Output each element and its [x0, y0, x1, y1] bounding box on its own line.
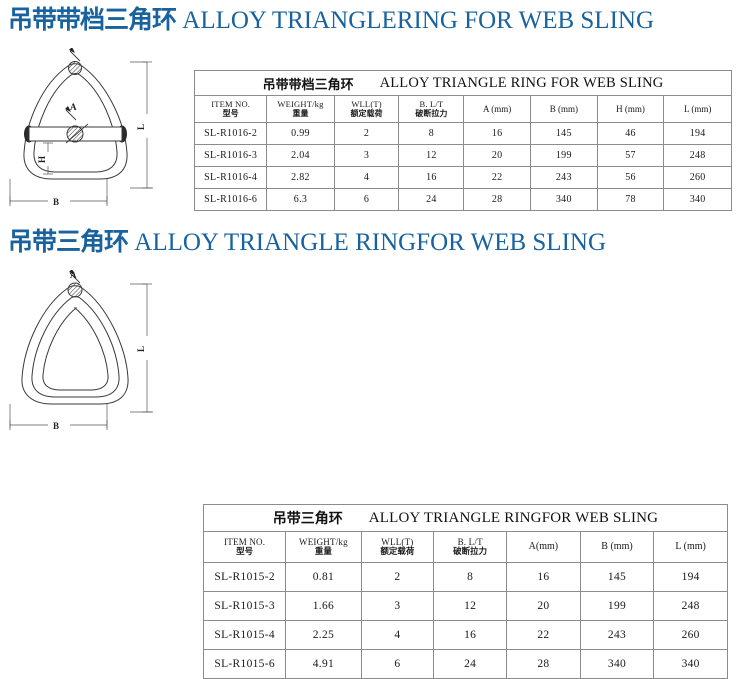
col-header-item-no-cn: 型号 — [204, 547, 285, 557]
cell-weight: 0.81 — [286, 563, 361, 592]
col-header-a: A(mm) — [507, 532, 581, 563]
col-header-l: L (mm) — [664, 96, 732, 123]
section-title: 吊带带档三角环 ALLOY TRIANGLERING FOR WEB SLING — [0, 0, 750, 40]
cell-l: 340 — [654, 650, 728, 679]
col-header-blt: B. L/T 破断拉力 — [434, 532, 507, 563]
cell-a: 20 — [464, 145, 531, 167]
col-header-b: B (mm) — [531, 96, 598, 123]
cell-item-no: SL-R1016-2 — [195, 123, 267, 145]
cell-wll: 2 — [334, 123, 399, 145]
cell-h: 57 — [597, 145, 664, 167]
cell-weight: 2.82 — [267, 167, 334, 189]
cell-weight: 2.04 — [267, 145, 334, 167]
table-row: SL-R1016-4 2.82 4 16 22 243 56 260 — [195, 167, 732, 189]
cell-b: 243 — [531, 167, 598, 189]
table-body: SL-R1015-2 0.81 2 8 16 145 194 SL-R1015-… — [204, 563, 728, 679]
section-title-en: ALLOY TRIANGLERING FOR WEB SLING — [182, 7, 654, 34]
cell-blt: 16 — [434, 621, 507, 650]
col-header-weight-cn: 重量 — [286, 547, 360, 557]
cell-b: 199 — [531, 145, 598, 167]
col-header-blt-en: B. L/T — [434, 537, 506, 548]
col-header-h-label: H (mm) — [598, 104, 664, 115]
cell-a: 28 — [507, 650, 581, 679]
table-row: SL-R1016-2 0.99 2 8 16 145 46 194 — [195, 123, 732, 145]
table-body: SL-R1016-2 0.99 2 8 16 145 46 194 SL-R10… — [195, 123, 732, 211]
table-banner-en: ALLOY TRIANGLE RINGFOR WEB SLING — [369, 510, 658, 527]
col-header-item-no: ITEM NO. 型号 — [195, 96, 267, 123]
product-section-triangle-ring: 吊带三角环 ALLOY TRIANGLE RINGFOR WEB SLING A — [0, 222, 750, 262]
col-header-wll-en: WLL(T) — [362, 537, 434, 548]
cell-a: 20 — [507, 592, 581, 621]
col-header-a: A (mm) — [464, 96, 531, 123]
table-row: SL-R1015-2 0.81 2 8 16 145 194 — [204, 563, 728, 592]
cell-b: 145 — [580, 563, 654, 592]
col-header-l-label: L (mm) — [664, 104, 731, 115]
cell-a: 16 — [507, 563, 581, 592]
cell-l: 260 — [664, 167, 732, 189]
col-header-blt: B. L/T 破断拉力 — [399, 96, 464, 123]
cell-l: 260 — [654, 621, 728, 650]
section-title-cn: 吊带三角环 — [8, 227, 128, 256]
cell-blt: 12 — [434, 592, 507, 621]
cell-weight: 1.66 — [286, 592, 361, 621]
col-header-b: B (mm) — [580, 532, 654, 563]
table-row: SL-R1016-3 2.04 3 12 20 199 57 248 — [195, 145, 732, 167]
cell-blt: 24 — [434, 650, 507, 679]
col-header-wll: WLL(T) 额定载荷 — [361, 532, 434, 563]
cell-weight: 0.99 — [267, 123, 334, 145]
col-header-wll-en: WLL(T) — [335, 99, 399, 109]
table-banner-row: 吊带带档三角环 ALLOY TRIANGLE RING FOR WEB SLIN… — [195, 71, 732, 96]
col-header-weight: WEIGHT/kg 重量 — [267, 96, 334, 123]
cell-b: 145 — [531, 123, 598, 145]
bar-section-hatch-top — [69, 62, 82, 75]
cell-b: 340 — [580, 650, 654, 679]
cell-blt: 8 — [399, 123, 464, 145]
col-header-item-no-en: ITEM NO. — [195, 99, 266, 109]
table-row: SL-R1015-6 4.91 6 24 28 340 340 — [204, 650, 728, 679]
cell-item-no: SL-R1015-2 — [204, 563, 286, 592]
col-header-blt-cn: 破断拉力 — [434, 547, 506, 557]
table-banner-cn: 吊带三角环 — [273, 508, 343, 528]
col-header-b-label: B (mm) — [531, 104, 597, 115]
product-section-triangle-ring-with-bar: 吊带带档三角环 ALLOY TRIANGLERING FOR WEB SLING — [0, 0, 750, 40]
cell-item-no: SL-R1016-3 — [195, 145, 267, 167]
cell-l: 248 — [654, 592, 728, 621]
cell-h: 46 — [597, 123, 664, 145]
col-header-a-label: A(mm) — [507, 541, 580, 553]
table-banner: 吊带带档三角环 ALLOY TRIANGLE RING FOR WEB SLIN… — [195, 71, 732, 96]
table-banner-row: 吊带三角环 ALLOY TRIANGLE RINGFOR WEB SLING — [204, 505, 728, 532]
cell-h: 56 — [597, 167, 664, 189]
cell-wll: 2 — [361, 563, 434, 592]
col-header-wll-cn: 额定载荷 — [362, 547, 434, 557]
cell-b: 243 — [580, 621, 654, 650]
cell-wll: 4 — [334, 167, 399, 189]
triangle-ring-drawing: A L B — [8, 270, 193, 435]
cell-l: 340 — [664, 189, 732, 211]
cell-wll: 3 — [361, 592, 434, 621]
section-title-cn: 吊带带档三角环 — [8, 5, 176, 34]
cell-a: 22 — [464, 167, 531, 189]
label-l-2: L — [136, 346, 146, 352]
table-header-row: ITEM NO. 型号 WEIGHT/kg 重量 WLL(T) 额定载荷 B. … — [195, 96, 732, 123]
label-a-1: A — [70, 102, 77, 112]
col-header-blt-cn: 破断拉力 — [399, 109, 463, 118]
cell-a: 28 — [464, 189, 531, 211]
cell-l: 248 — [664, 145, 732, 167]
col-header-weight-en: WEIGHT/kg — [267, 99, 333, 109]
col-header-weight-cn: 重量 — [267, 109, 333, 118]
col-header-weight: WEIGHT/kg 重量 — [286, 532, 361, 563]
table-row: SL-R1015-3 1.66 3 12 20 199 248 — [204, 592, 728, 621]
cell-weight: 4.91 — [286, 650, 361, 679]
cell-item-no: SL-R1016-6 — [195, 189, 267, 211]
cell-wll: 6 — [361, 650, 434, 679]
table-row: SL-R1016-6 6.3 6 24 28 340 78 340 — [195, 189, 732, 211]
col-header-a-label: A (mm) — [464, 104, 530, 115]
cell-l: 194 — [664, 123, 732, 145]
cell-blt: 16 — [399, 167, 464, 189]
table-header-row: ITEM NO. 型号 WEIGHT/kg 重量 WLL(T) 额定载荷 B. … — [204, 532, 728, 563]
cell-b: 199 — [580, 592, 654, 621]
cell-a: 16 — [464, 123, 531, 145]
table-banner: 吊带三角环 ALLOY TRIANGLE RINGFOR WEB SLING — [204, 505, 728, 532]
triangle-ring-with-bar-drawing: A L B — [8, 48, 193, 213]
section-title-en: ALLOY TRIANGLE RINGFOR WEB SLING — [134, 229, 606, 256]
bar-section-hatch-top — [68, 283, 82, 297]
col-header-b-label: B (mm) — [581, 541, 654, 553]
cell-a: 22 — [507, 621, 581, 650]
cell-item-no: SL-R1016-4 — [195, 167, 267, 189]
cell-b: 340 — [531, 189, 598, 211]
label-b-2: B — [53, 421, 59, 431]
cell-item-no: SL-R1015-4 — [204, 621, 286, 650]
cell-wll: 3 — [334, 145, 399, 167]
col-header-weight-en: WEIGHT/kg — [286, 537, 360, 548]
label-h-1: H — [37, 156, 47, 163]
section-title: 吊带三角环 ALLOY TRIANGLE RINGFOR WEB SLING — [0, 222, 750, 262]
cell-wll: 4 — [361, 621, 434, 650]
cell-l: 194 — [654, 563, 728, 592]
col-header-item-no-en: ITEM NO. — [204, 537, 285, 548]
label-b-1: B — [53, 197, 59, 207]
col-header-item-no-cn: 型号 — [195, 109, 266, 118]
cell-blt: 24 — [399, 189, 464, 211]
col-header-item-no: ITEM NO. 型号 — [204, 532, 286, 563]
cell-wll: 6 — [334, 189, 399, 211]
col-header-l-label: L (mm) — [654, 541, 727, 553]
col-header-wll-cn: 额定载荷 — [335, 109, 399, 118]
table-banner-en: ALLOY TRIANGLE RING FOR WEB SLING — [380, 75, 664, 92]
cell-item-no: SL-R1015-3 — [204, 592, 286, 621]
table-banner-cn: 吊带带档三角环 — [263, 74, 354, 93]
cell-blt: 12 — [399, 145, 464, 167]
spec-table-triangle-ring: 吊带三角环 ALLOY TRIANGLE RINGFOR WEB SLING I… — [203, 504, 728, 679]
label-l-1: L — [136, 124, 146, 130]
cell-item-no: SL-R1015-6 — [204, 650, 286, 679]
col-header-blt-en: B. L/T — [399, 99, 463, 109]
label-a-2: A — [70, 270, 77, 280]
col-header-l: L (mm) — [654, 532, 728, 563]
cell-h: 78 — [597, 189, 664, 211]
col-header-h: H (mm) — [597, 96, 664, 123]
spec-table-triangle-ring-with-bar: 吊带带档三角环 ALLOY TRIANGLE RING FOR WEB SLIN… — [194, 70, 732, 211]
table-row: SL-R1015-4 2.25 4 16 22 243 260 — [204, 621, 728, 650]
cell-weight: 6.3 — [267, 189, 334, 211]
cell-weight: 2.25 — [286, 621, 361, 650]
cell-blt: 8 — [434, 563, 507, 592]
col-header-wll: WLL(T) 额定载荷 — [334, 96, 399, 123]
